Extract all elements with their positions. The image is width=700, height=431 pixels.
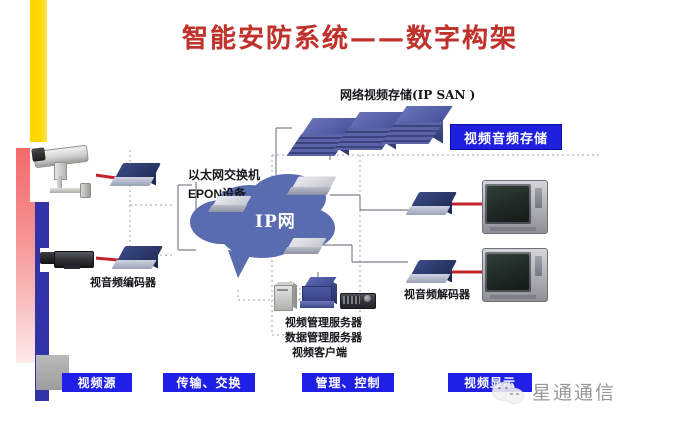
crt-monitor-2 — [482, 248, 546, 300]
cloud-label: IP网 — [255, 215, 296, 229]
server-label-1: 视频管理服务器 — [285, 316, 362, 330]
server-label-2: 数据管理服务器 — [285, 331, 362, 345]
tower-drive-slot — [277, 289, 288, 291]
keypad-keys — [343, 296, 360, 304]
switch-device-1 — [210, 196, 250, 216]
keypad-joystick-icon — [364, 295, 371, 302]
storage-rack-3 — [388, 106, 450, 150]
switch-device-2 — [289, 177, 335, 200]
stage-label-video-source: 视频源 — [62, 373, 132, 392]
control-keypad — [340, 291, 374, 311]
switch-device-3 — [285, 238, 325, 258]
decoder-front — [406, 274, 451, 283]
slide-canvas: 智能安防系统——数字构架 — [0, 0, 700, 431]
switch-front — [283, 247, 322, 254]
storage-label: 网络视频存储(IP SAN ) — [340, 88, 475, 102]
decoder-device-2 — [408, 260, 454, 286]
monitor-controls — [535, 188, 542, 208]
monitor-foot — [490, 295, 536, 299]
watermark-text: 星通通信 — [532, 378, 616, 405]
decoder-label: 视音频解码器 — [404, 288, 470, 302]
watermark: 星通通信 — [492, 378, 616, 405]
switch-front — [208, 205, 247, 212]
management-server — [300, 277, 338, 311]
monitor-screen — [487, 254, 529, 290]
decoder-device-1 — [408, 192, 454, 218]
rack-front — [381, 122, 444, 144]
server-base — [300, 301, 334, 308]
ip-cloud-shape — [0, 0, 700, 431]
stage-label-transmission: 传输、交换 — [163, 373, 255, 392]
server-label-3: 视频客户端 — [292, 346, 347, 360]
monitor-controls — [535, 256, 542, 276]
monitor-foot — [490, 227, 536, 231]
decoder-front — [406, 206, 451, 215]
monitor-screen — [487, 186, 529, 222]
crt-monitor-1 — [482, 180, 546, 232]
stage-label-management: 管理、控制 — [302, 373, 394, 392]
switch-label-line1: 以太网交换机 — [188, 168, 260, 182]
wechat-logo-icon — [492, 380, 526, 404]
switch-front — [287, 187, 332, 195]
pc-tower — [274, 282, 298, 310]
storage-badge: 视频音频存储 — [450, 124, 562, 150]
